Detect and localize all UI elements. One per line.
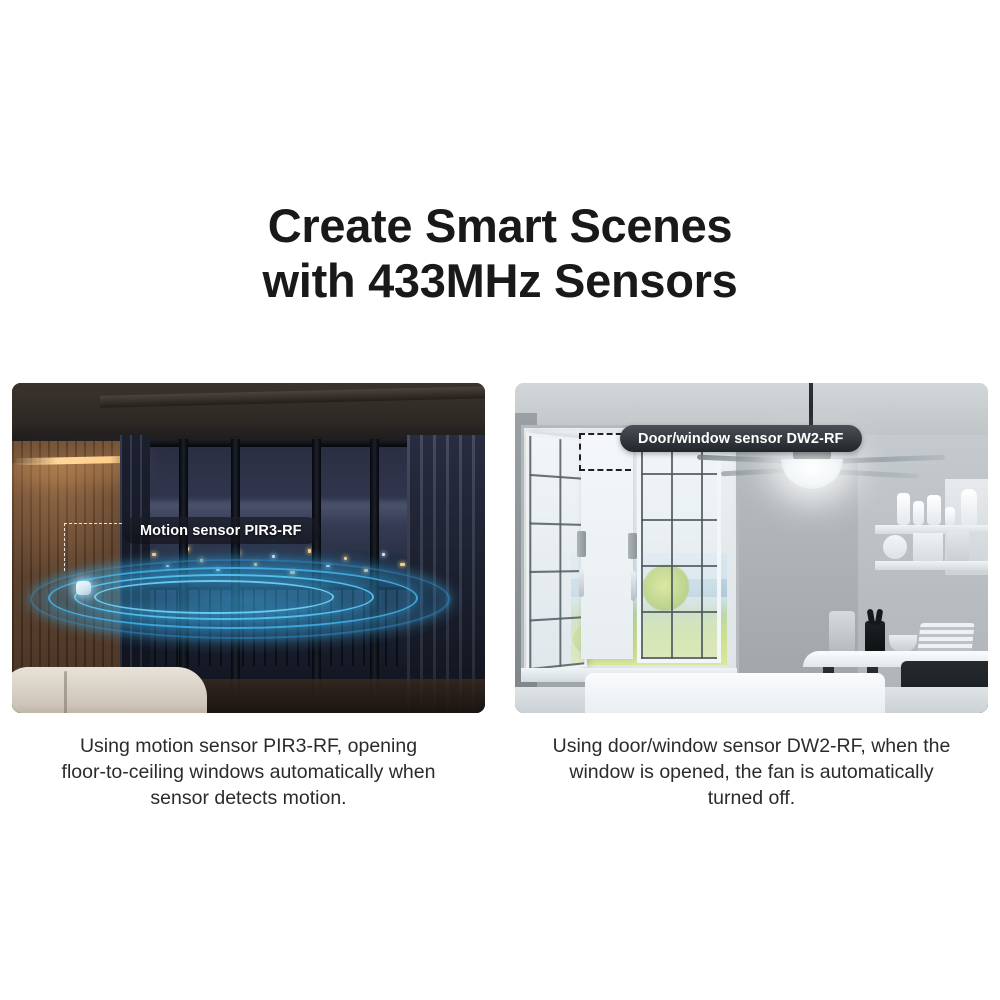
caption-door-window-sensor: Using door/window sensor DW2-RF, when th… [515,733,988,811]
callout-leader-line [64,523,122,571]
window-pane-grid [641,445,717,659]
window-pane-grid [529,436,584,670]
page-title: Create Smart Scenes with 433MHz Sensors [0,198,1000,308]
caption-line-1: Using motion sensor PIR3-RF, opening [12,733,485,759]
detection-ring [94,580,334,614]
vase [961,489,977,525]
sofa [12,667,207,713]
storage-box [947,531,969,561]
window-handle [631,571,636,601]
vase [927,495,941,525]
window-handle [579,569,584,597]
caption-line-3: turned off. [515,785,988,811]
window-hinge [628,533,637,559]
caption-motion-sensor: Using motion sensor PIR3-RF, opening flo… [12,733,485,811]
caption-line-2: window is opened, the fan is automatical… [515,759,988,785]
wall-shelf [875,561,988,570]
vase [913,501,924,525]
product-feature-page: Create Smart Scenes with 433MHz Sensors [0,0,1000,1000]
kitchen-island [585,673,885,713]
caption-line-3: sensor detects motion. [12,785,485,811]
callout-motion-sensor: Motion sensor PIR3-RF [122,517,320,544]
storage-box [913,533,943,561]
door-window-sensor-scene-image: Door/window sensor DW2-RF [515,383,988,713]
utensil-holder [865,621,885,653]
caption-line-1: Using door/window sensor DW2-RF, when th… [515,733,988,759]
caption-line-2: floor-to-ceiling windows automatically w… [12,759,485,785]
window-hinge [577,531,586,557]
page-title-line-1: Create Smart Scenes [268,199,733,252]
pir3-rf-sensor-device [76,581,91,595]
vase [945,507,955,525]
motion-sensor-scene-image: Motion sensor PIR3-RF [12,383,485,713]
callout-door-window-sensor: Door/window sensor DW2-RF [620,425,862,452]
vase [897,493,910,525]
stacked-plates [917,623,974,653]
page-title-line-2: with 433MHz Sensors [0,253,1000,308]
plate [883,535,907,559]
canister [829,611,855,653]
feature-cards-row: Motion sensor PIR3-RF [12,383,988,713]
window-sash-right [637,441,721,663]
